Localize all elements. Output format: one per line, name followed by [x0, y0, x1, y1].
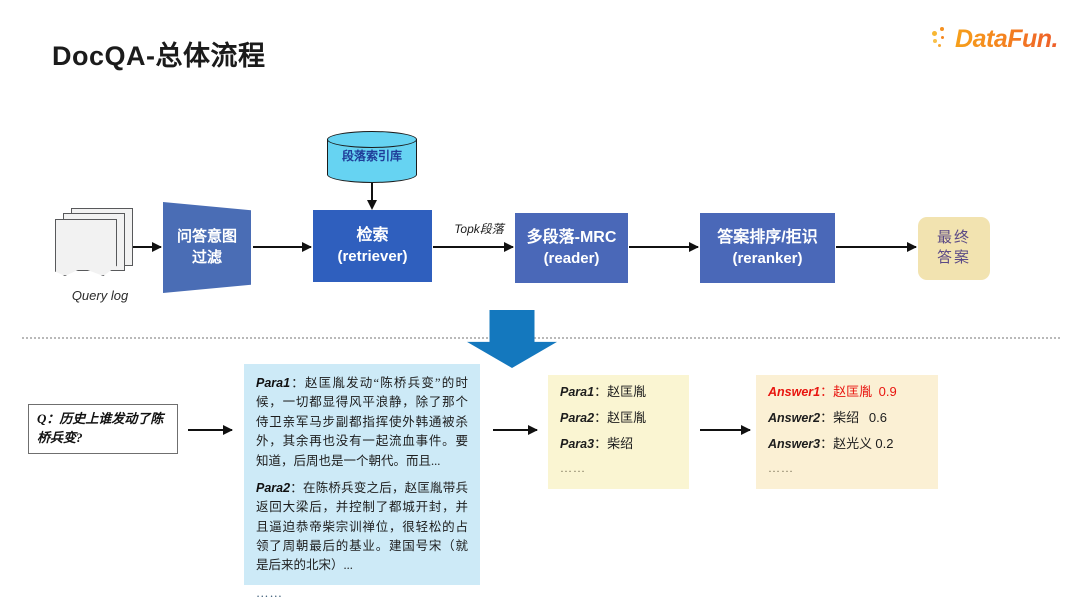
para-answer-2-value: 赵匡胤 — [607, 410, 646, 425]
retriever-cn-label: 检索 — [356, 226, 388, 247]
paragraph-1-sep: ： — [290, 376, 305, 390]
reader-en-label: (reader) — [544, 249, 600, 269]
ranked-answers-box: Answer1：赵匡胤 0.9 Answer2：柴绍 0.6 Answer3：赵… — [756, 375, 938, 489]
arrow-reranker-to-final — [836, 246, 916, 248]
passage-index-store-label: 段落索引库 — [327, 147, 417, 164]
final-answer-line2: 答案 — [937, 249, 971, 269]
para-answer-3-tag: Para3 — [560, 437, 594, 451]
node-final-answer[interactable]: 最终 答案 — [918, 217, 990, 280]
answer-2-sep: ： — [820, 410, 833, 425]
question-text: Q：历史上谁发动了陈桥兵变? — [37, 410, 169, 448]
para-answers-ellipsis: …… — [560, 462, 677, 475]
retrieved-paragraphs-box: Para1：赵匡胤发动“陈桥兵变”的时候，一切都显得风平浪静，除了那个侍卫亲军马… — [244, 364, 480, 585]
answer-1-tag: Answer1 — [768, 385, 820, 399]
slide-canvas: DocQA-总体流程 DataFun. Query log 问答意图 过滤 段落… — [0, 0, 1080, 608]
answer-3-score: 0.2 — [875, 436, 893, 451]
arrow-index-to-retriever — [371, 183, 373, 201]
list-item: Para2：赵匡胤 — [560, 411, 677, 426]
node-reader[interactable]: 多段落-MRC (reader) — [515, 213, 628, 283]
question-box: Q：历史上谁发动了陈桥兵变? — [28, 404, 178, 454]
list-item: Answer3：赵光义 0.2 — [768, 437, 926, 452]
datafun-logo: DataFun. — [932, 22, 1058, 56]
arrow-para-answers-to-ranked — [700, 429, 750, 431]
list-item: Answer2：柴绍 0.6 — [768, 411, 926, 426]
logo-dots-icon — [932, 27, 954, 51]
intent-filter-line1: 问答意图 — [177, 227, 237, 247]
paragraph-2-sep: ： — [290, 481, 303, 495]
paragraph-item: Para2：在陈桥兵变之后，赵匡胤带兵返回大梁后，并控制了都城开封，并且逼迫恭帝… — [256, 479, 468, 576]
paragraph-item: Para1：赵匡胤发动“陈桥兵变”的时候，一切都显得风平浪静，除了那个侍卫亲军马… — [256, 374, 468, 471]
answer-2-tag: Answer2 — [768, 411, 820, 425]
answer-1-value: 赵匡胤 — [833, 384, 872, 399]
arrow-question-to-paragraphs — [188, 429, 232, 431]
reranker-cn-label: 答案排序/拒识 — [717, 228, 817, 249]
cylinder-top — [327, 131, 417, 148]
answer-3-tag: Answer3 — [768, 437, 820, 451]
node-passage-index-store[interactable]: 段落索引库 — [327, 131, 417, 183]
page-title: DocQA-总体流程 — [52, 34, 266, 73]
edge-label-topk: Topk段落 — [444, 220, 514, 237]
arrow-querylog-to-filter — [133, 246, 161, 248]
answer-1-score: 0.9 — [879, 384, 897, 399]
arrow-paragraphs-to-para-answers — [493, 429, 537, 431]
query-log-label: Query log — [50, 288, 150, 303]
node-reranker[interactable]: 答案排序/拒识 (reranker) — [700, 213, 835, 283]
answer-1-sep: ： — [820, 384, 833, 399]
answer-2-score: 0.6 — [869, 410, 887, 425]
query-log-document-stack-icon — [55, 208, 135, 278]
list-item: Answer1：赵匡胤 0.9 — [768, 385, 926, 400]
para-answer-3-sep: ： — [594, 436, 607, 451]
paragraph-2-tag: Para2 — [256, 481, 290, 495]
answer-3-sep: ： — [820, 436, 833, 451]
section-down-arrow-icon — [467, 310, 557, 368]
para-answer-3-value: 柴绍 — [607, 436, 633, 451]
ranked-answers-ellipsis: …… — [768, 462, 926, 475]
node-retriever[interactable]: 检索 (retriever) — [313, 210, 432, 282]
paragraph-answers-box: Para1：赵匡胤 Para2：赵匡胤 Para3：柴绍 …… — [548, 375, 689, 489]
intent-filter-line2: 过滤 — [192, 248, 222, 268]
section-divider — [22, 337, 1060, 339]
para-answer-1-tag: Para1 — [560, 385, 594, 399]
final-answer-line1: 最终 — [937, 229, 971, 249]
arrow-reader-to-reranker — [629, 246, 698, 248]
list-item: Para1：赵匡胤 — [560, 385, 677, 400]
para-answer-2-tag: Para2 — [560, 411, 594, 425]
para-answer-2-sep: ： — [594, 410, 607, 425]
list-item: Para3：柴绍 — [560, 437, 677, 452]
retriever-en-label: (retriever) — [337, 247, 407, 267]
logo-wordmark: DataFun. — [955, 25, 1058, 54]
reranker-en-label: (reranker) — [732, 249, 802, 269]
para-answer-1-value: 赵匡胤 — [607, 384, 646, 399]
arrow-retriever-to-reader — [433, 246, 513, 248]
node-intent-filter[interactable]: 问答意图 过滤 — [163, 202, 251, 293]
reader-cn-label: 多段落-MRC — [527, 228, 617, 249]
answer-3-value: 赵光义 — [833, 436, 872, 451]
answer-2-value: 柴绍 — [833, 410, 859, 425]
paragraph-1-tag: Para1 — [256, 376, 290, 390]
paragraphs-ellipsis: …… — [256, 584, 468, 603]
arrow-filter-to-retriever — [253, 246, 311, 248]
para-answer-1-sep: ： — [594, 384, 607, 399]
